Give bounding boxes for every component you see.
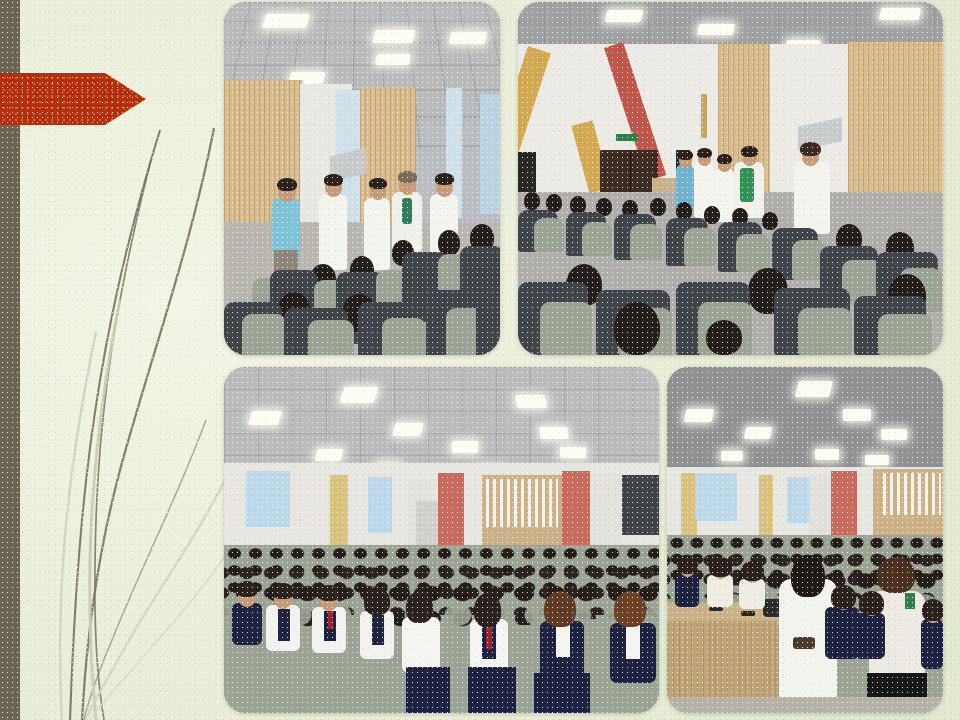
photo-bottom-right[interactable]: View from the stage showing a speaker in… xyxy=(667,367,943,713)
photo-top-left[interactable]: Five women in white medical coats and a … xyxy=(224,2,500,355)
photo-top-right[interactable]: Wide view of a lecture hall with a large… xyxy=(518,2,943,355)
rust-arrow-banner xyxy=(0,73,146,125)
presentation-slide: Five women in white medical coats and a … xyxy=(0,0,960,720)
photo-bottom-left[interactable]: Full auditorium filled with students in … xyxy=(224,367,659,713)
